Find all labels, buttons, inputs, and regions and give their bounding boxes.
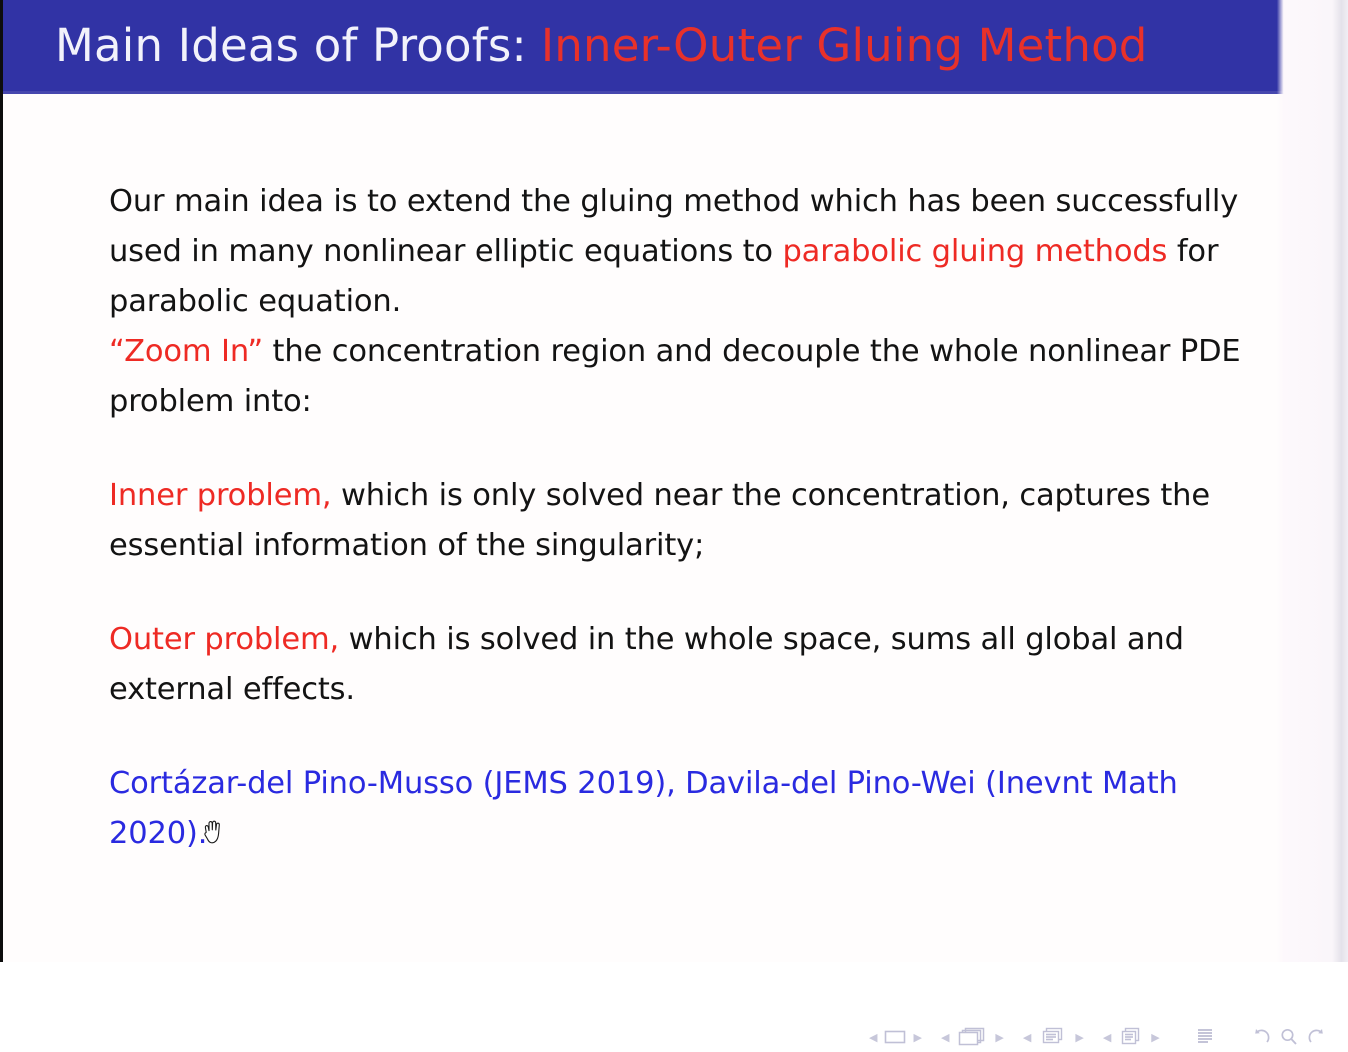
paragraph-main-idea: Our main idea is to extend the gluing me… <box>109 177 1269 327</box>
next-frame-arrow-icon[interactable]: ▶ <box>995 1032 1003 1043</box>
subsection-pages-icon[interactable] <box>1038 1026 1068 1048</box>
section-pages-icon[interactable] <box>1118 1026 1144 1048</box>
slide-title-bar: Main Ideas of Proofs:Inner-Outer Gluing … <box>3 0 1348 94</box>
next-subsection-arrow-icon[interactable]: ▶ <box>1075 1032 1083 1043</box>
nav-group-history[interactable] <box>1250 1027 1328 1047</box>
prev-section-arrow-icon[interactable]: ◀ <box>1103 1032 1111 1043</box>
prev-frame-arrow-icon[interactable]: ◀ <box>941 1032 949 1043</box>
slide-title-main: Main Ideas of Proofs: <box>55 19 527 72</box>
highlight-zoom-in: “Zoom In” <box>109 334 263 369</box>
slide-frame-icon[interactable] <box>884 1029 906 1045</box>
spacer-3 <box>109 715 1269 759</box>
references-citation: Cortázar-del Pino-Musso (JEMS 2019), Dav… <box>109 759 1269 859</box>
paragraph-zoom-in-text: the concentration region and decouple th… <box>109 334 1241 419</box>
document-lines-icon[interactable] <box>1194 1026 1216 1048</box>
spacer-1 <box>109 427 1269 471</box>
next-section-arrow-icon[interactable]: ▶ <box>1151 1032 1159 1043</box>
prev-slide-arrow-icon[interactable]: ◀ <box>869 1032 877 1043</box>
slide-title-accent: Inner-Outer Gluing Method <box>541 19 1148 72</box>
grab-hand-cursor <box>199 818 225 848</box>
paragraph-zoom-in: “Zoom In” the concentration region and d… <box>109 327 1269 427</box>
paragraph-outer-problem: Outer problem, which is solved in the wh… <box>109 615 1269 715</box>
undo-arrow-icon[interactable] <box>1250 1027 1272 1047</box>
slide-body: Our main idea is to extend the gluing me… <box>3 94 1348 962</box>
magnifier-icon[interactable] <box>1279 1027 1299 1047</box>
highlight-outer-problem: Outer problem, <box>109 622 339 657</box>
next-slide-arrow-icon[interactable]: ▶ <box>913 1032 921 1043</box>
slide-title: Main Ideas of Proofs:Inner-Outer Gluing … <box>55 17 1148 75</box>
beamer-navigation-bar[interactable]: ◀ ▶ ◀ ▶ ◀ <box>869 1022 1331 1052</box>
nav-group-section[interactable]: ◀ ▶ <box>1103 1026 1160 1048</box>
nav-group-subsection[interactable]: ◀ ▶ <box>1023 1026 1084 1048</box>
highlight-inner-problem: Inner problem, <box>109 478 331 513</box>
highlight-parabolic-gluing-methods: parabolic gluing methods <box>782 234 1167 269</box>
spacer-2 <box>109 571 1269 615</box>
nav-group-frame[interactable]: ◀ ▶ <box>941 1026 1004 1048</box>
slide-content: Our main idea is to extend the gluing me… <box>109 177 1269 859</box>
presentation-slide[interactable]: Main Ideas of Proofs:Inner-Outer Gluing … <box>0 0 1348 962</box>
stacked-frames-icon[interactable] <box>956 1026 988 1048</box>
redo-arrow-icon[interactable] <box>1306 1027 1328 1047</box>
prev-subsection-arrow-icon[interactable]: ◀ <box>1023 1032 1031 1043</box>
nav-group-slide[interactable]: ◀ ▶ <box>869 1029 922 1045</box>
paragraph-inner-problem: Inner problem, which is only solved near… <box>109 471 1269 571</box>
